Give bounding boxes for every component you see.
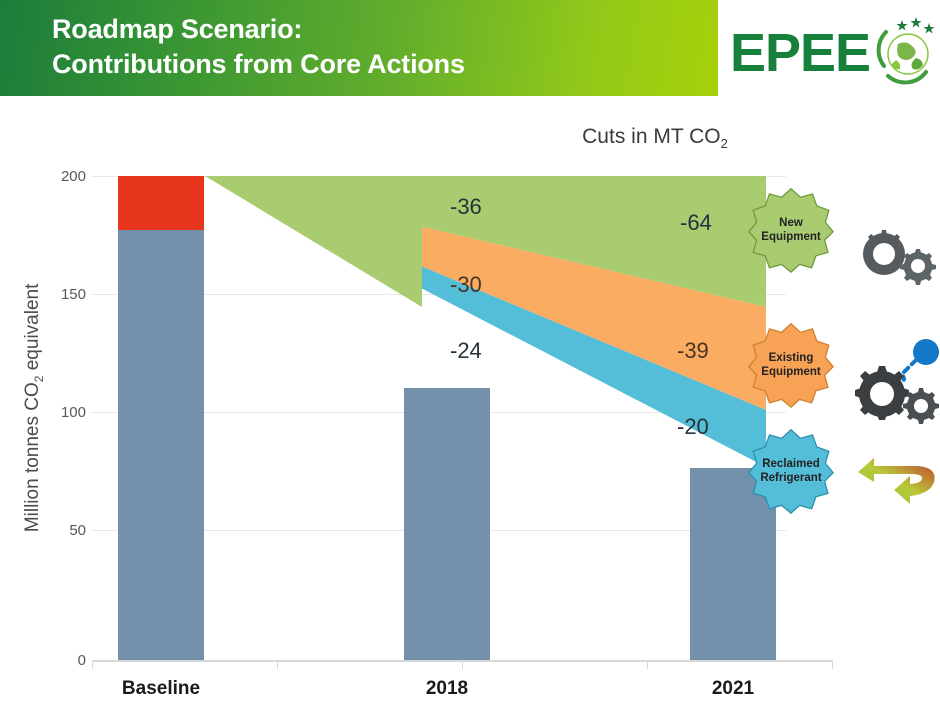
bar-baseline-base [118,230,204,660]
label-2018-existing-equipment: -30 [450,272,482,298]
globe-stars-icon [872,10,940,90]
x-label-baseline: Baseline [98,678,224,700]
badge-existing-equipment-line1: Existing [769,352,814,364]
y-axis-ticks: 200 150 100 50 0 [36,96,86,705]
x-label-2021: 2021 [670,678,796,700]
label-2018-new-equipment: -36 [450,194,482,220]
recycle-arrow-icon [852,448,940,519]
bar-2018 [404,388,490,660]
badge-reclaimed-refrigerant[interactable]: Reclaimed Refrigerant [748,428,834,514]
bar-baseline-growth [118,176,204,230]
page-title: Roadmap Scenario: Contributions from Cor… [52,12,692,82]
y-tick-200: 200 [42,168,86,185]
y-tick-100: 100 [42,404,86,421]
chart-area: Cuts in MT CO2 Million tonnes CO2 equiva… [0,96,940,705]
band-new-equipment-left [205,176,422,307]
title-line-2: Contributions from Core Actions [52,47,692,82]
header-banner: Roadmap Scenario: Contributions from Cor… [0,0,718,96]
gears-icon [846,224,940,301]
badge-existing-equipment-line2: Equipment [761,366,820,378]
label-2021-existing-equipment: -39 [677,338,709,364]
badge-reclaimed-refrigerant-line2: Refrigerant [760,472,821,484]
label-2018-reclaimed-refrigerant: -24 [450,338,482,364]
x-label-2018: 2018 [384,678,510,700]
badge-new-equipment-line1: New [779,217,803,229]
badge-existing-equipment[interactable]: Existing Equipment [748,322,834,408]
epee-logo: EPEE [722,8,940,96]
label-2021-reclaimed-refrigerant: -20 [677,414,709,440]
y-tick-150: 150 [42,286,86,303]
label-2021-new-equipment: -64 [680,210,712,236]
badge-new-equipment[interactable]: New Equipment [748,187,834,273]
badge-reclaimed-refrigerant-line1: Reclaimed [762,458,820,470]
y-tick-0: 0 [42,652,86,669]
logo-wordmark: EPEE [730,22,870,84]
badge-new-equipment-line2: Equipment [761,231,820,243]
title-line-1: Roadmap Scenario: [52,12,692,47]
y-tick-50: 50 [42,522,86,539]
gears-oil-drop-icon [846,336,940,437]
